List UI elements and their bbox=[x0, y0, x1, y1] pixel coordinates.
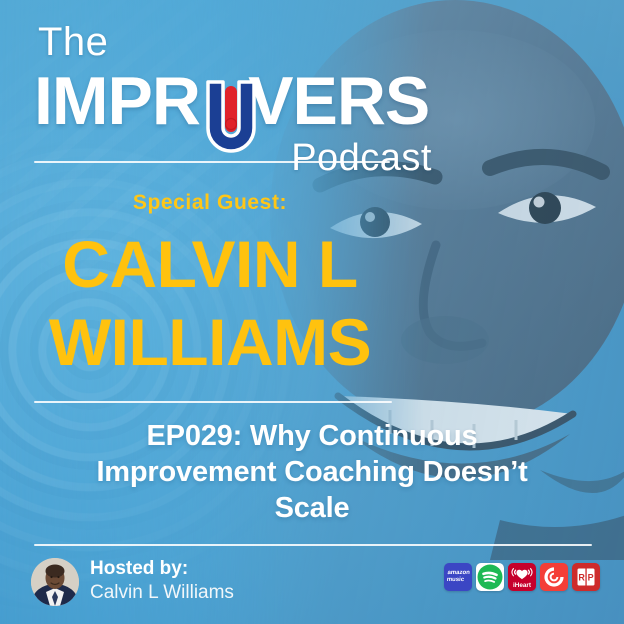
special-guest-label: Special Guest: bbox=[0, 191, 420, 215]
logo-the-text: The bbox=[38, 22, 434, 62]
guest-name-line-2: WILLIAMS bbox=[0, 303, 420, 381]
podcast-cover-art: The IMPRUVERS Podcast Speci bbox=[0, 0, 624, 624]
guest-name: CALVIN L WILLIAMS bbox=[0, 225, 420, 381]
radiopublic-icon[interactable]: R P bbox=[572, 563, 600, 591]
host-avatar bbox=[31, 558, 79, 606]
podcast-logo: The IMPRUVERS Podcast bbox=[34, 22, 434, 177]
svg-text:iHeart: iHeart bbox=[513, 582, 532, 589]
microphone-u-icon bbox=[203, 80, 259, 168]
logo-wordmark-suffix: VERS bbox=[248, 63, 429, 139]
host-name: Calvin L Williams bbox=[90, 581, 234, 605]
episode-title-line-3: Scale bbox=[56, 490, 568, 526]
divider-footer bbox=[34, 544, 592, 546]
spotify-icon[interactable] bbox=[476, 563, 504, 591]
amazon-music-line-1: amazon bbox=[447, 570, 470, 577]
hosted-by-label: Hosted by: bbox=[90, 557, 234, 581]
guest-name-line-1: CALVIN L bbox=[0, 225, 420, 303]
amazon-music-line-2: music bbox=[446, 577, 469, 584]
svg-text:P: P bbox=[588, 572, 594, 582]
host-info: Hosted by: Calvin L Williams bbox=[90, 557, 234, 605]
episode-title-line-2: Improvement Coaching Doesn’t bbox=[56, 454, 568, 490]
iheart-icon[interactable]: iHeart bbox=[508, 563, 536, 591]
episode-title: EP029: Why Continuous Improvement Coachi… bbox=[56, 418, 568, 526]
episode-title-line-1: EP029: Why Continuous bbox=[56, 418, 568, 454]
platform-badges: amazon music iH bbox=[444, 563, 600, 591]
svg-text:R: R bbox=[578, 572, 585, 582]
divider-middle bbox=[34, 401, 392, 403]
logo-wordmark-prefix: IMPR bbox=[34, 63, 200, 139]
amazon-music-icon[interactable]: amazon music bbox=[444, 563, 472, 591]
pocket-casts-icon[interactable] bbox=[540, 563, 568, 591]
footer: Hosted by: Calvin L Williams amazon musi… bbox=[0, 552, 624, 624]
logo-wordmark: IMPRUVERS bbox=[34, 64, 434, 138]
divider-top bbox=[34, 161, 390, 163]
